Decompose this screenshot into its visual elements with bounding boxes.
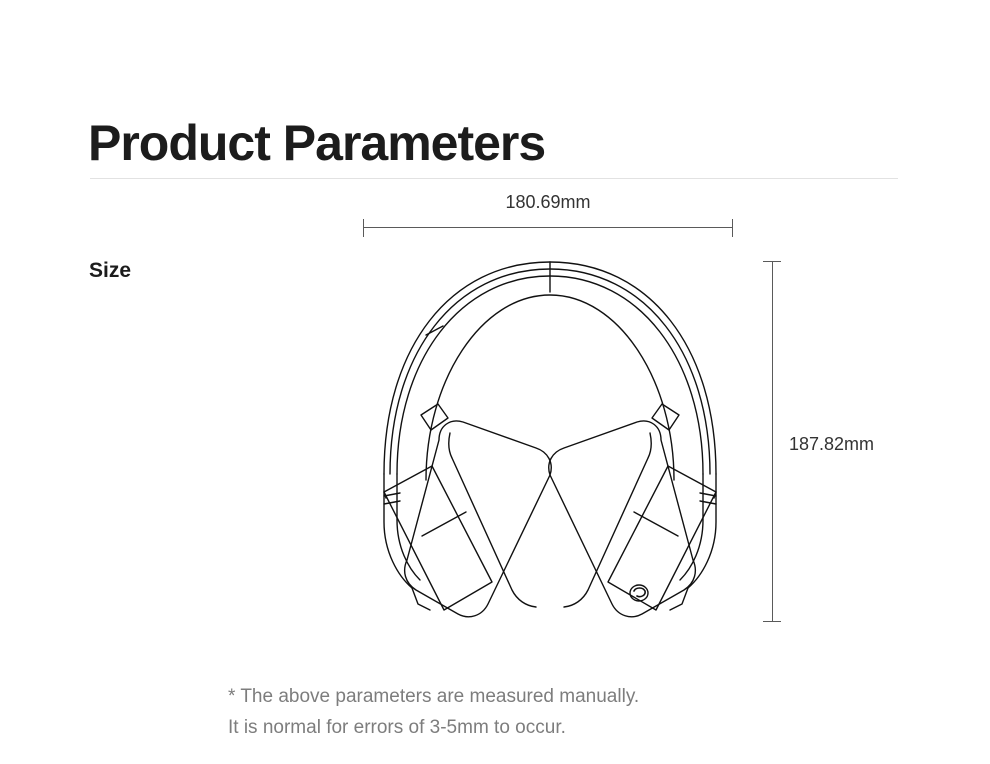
footnote-line-1: * The above parameters are measured manu… [228,681,639,712]
headband-outer-arcs [384,262,716,474]
brand-logo-icon [630,585,648,601]
footnote: * The above parameters are measured manu… [228,681,639,743]
product-parameters-page: Product Parameters Size 180.69mm 187.82m… [0,0,990,764]
headband-end-right [670,474,716,610]
headband-cushion-arc [426,295,674,480]
dimension-width-cap-right [732,219,733,237]
ear-cup-left [384,421,551,617]
footnote-line-2: It is normal for errors of 3-5mm to occu… [228,712,639,743]
title-divider [90,178,898,179]
dimension-width-cap-left [363,219,364,237]
headphones-line-drawing [360,252,740,637]
dimension-height-value: 187.82mm [789,434,874,455]
dimension-width-line [363,219,733,237]
page-title: Product Parameters [88,116,545,171]
dimension-height-cap-bottom [763,621,781,622]
dimension-height-line [763,261,781,622]
dimension-width-value: 180.69mm [363,192,733,213]
spec-row-label-size: Size [89,259,131,283]
headband-end-left [384,474,430,610]
dimension-width-rule [363,227,733,228]
dimension-height-rule [772,261,773,622]
